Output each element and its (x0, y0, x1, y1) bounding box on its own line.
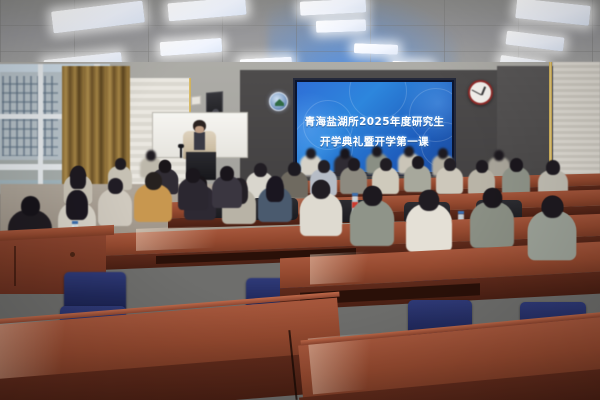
audience-head (363, 186, 382, 206)
audience-head (476, 160, 488, 173)
wall-clock-icon (468, 80, 493, 105)
audience-head (69, 190, 86, 208)
water-bottle-cap (72, 221, 78, 224)
audience-member (300, 180, 342, 236)
audience-head (146, 150, 156, 161)
audience-torso (404, 165, 431, 192)
cabinet-seam (14, 246, 16, 286)
lecture-hall-photo: 青海盐湖所2025年度研究生 开学典礼暨开学第一课 (0, 0, 600, 400)
audience-head (220, 166, 234, 181)
audience-head (483, 188, 502, 208)
audience-head (412, 156, 424, 169)
audience-head (72, 166, 85, 180)
audience-torso (98, 189, 132, 226)
audience-head (542, 196, 563, 218)
audience-torso (406, 204, 452, 252)
water-bottle-cap (458, 211, 464, 214)
audience-member (528, 196, 576, 260)
audience-member (350, 186, 394, 246)
audience-torso (528, 211, 576, 260)
audience-head (340, 148, 350, 159)
audience-member (404, 156, 431, 192)
audience-head (254, 163, 267, 177)
cabinet-knob (70, 252, 75, 257)
audience-torso (470, 202, 514, 248)
audience-head (145, 172, 162, 190)
ceiling-lamp (354, 43, 398, 55)
audience-member (406, 190, 452, 252)
clock-minute-hand (471, 89, 481, 95)
audience-member (134, 172, 172, 222)
audience-torso (178, 178, 208, 210)
audience-member (258, 176, 292, 222)
audience-member (436, 158, 463, 194)
audience-head (380, 158, 392, 171)
audience-head (186, 168, 200, 183)
audience-head (348, 158, 360, 171)
audience-head (21, 196, 40, 216)
audience-head (288, 162, 301, 176)
screen-title-line1: 青海盐湖所2025年度研究生 (297, 114, 452, 129)
audience-member (212, 166, 242, 208)
audience-head (312, 180, 330, 199)
audience-head (108, 178, 123, 194)
audience-head (404, 146, 414, 157)
presenter-shirt (194, 132, 205, 150)
audience-torso (300, 193, 342, 236)
audience-head (306, 148, 316, 159)
audience-head (159, 160, 171, 173)
audience-head (438, 148, 448, 159)
audience-head (115, 158, 126, 170)
microphone-head-icon (178, 144, 184, 148)
audience-head (510, 158, 523, 172)
audience-head (268, 176, 283, 192)
audience-member (470, 188, 514, 248)
audience-head (546, 160, 560, 175)
ceiling-lamp (316, 19, 366, 33)
audience-head (444, 158, 456, 171)
audience-torso (212, 176, 242, 208)
audience-torso (350, 200, 394, 246)
projector-sensor-icon (191, 95, 201, 105)
audience-head (372, 146, 382, 157)
window-mullion-v1 (38, 64, 43, 194)
institutional-emblem-icon (269, 92, 288, 111)
audience-member (98, 178, 132, 226)
audience-member (178, 168, 208, 210)
presenter-face (195, 126, 204, 133)
audience-head (419, 190, 439, 211)
audience-head (318, 160, 330, 173)
